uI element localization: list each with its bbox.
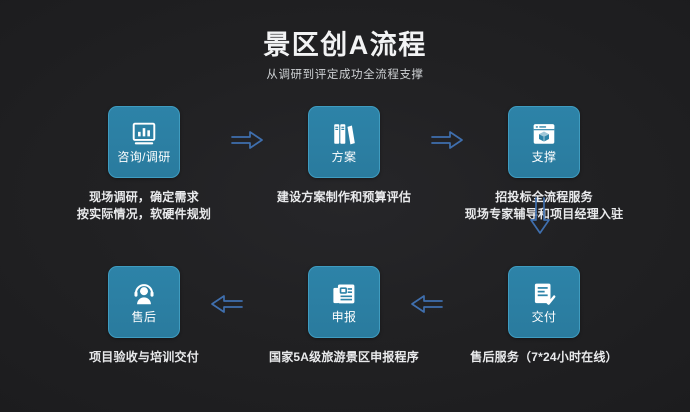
step-card-declare[interactable]: 申报	[308, 266, 380, 338]
flow-step-consult[interactable]: 咨询/调研 现场调研，确定需求 按实际情况，软硬件规划	[44, 106, 244, 223]
documents-icon	[331, 281, 357, 307]
flow-diagram-canvas: 景区创A流程 从调研到评定成功全流程支撑 咨询/调研 现场调研，确定需求 按实际…	[0, 0, 690, 412]
page-title: 景区创A流程	[0, 28, 690, 62]
flow-step-plan[interactable]: 方案 建设方案制作和预算评估	[244, 106, 444, 206]
arrow-left-deliver-to-declare	[410, 292, 444, 316]
document-check-icon	[531, 281, 557, 307]
step-card-support[interactable]: 支撑	[508, 106, 580, 178]
flow-step-deliver[interactable]: 交付 售后服务（7*24小时在线）	[444, 266, 644, 366]
step-card-plan[interactable]: 方案	[308, 106, 380, 178]
step-description: 项目验收与培训交付	[44, 349, 244, 366]
header: 景区创A流程 从调研到评定成功全流程支撑	[0, 28, 690, 83]
flow-step-declare[interactable]: 申报 国家5A级旅游景区申报程序	[244, 266, 444, 366]
page-subtitle: 从调研到评定成功全流程支撑	[0, 68, 690, 83]
step-label: 咨询/调研	[117, 150, 170, 164]
step-label: 申报	[332, 310, 357, 324]
flow-step-aftersales[interactable]: 售后 项目验收与培训交付	[44, 266, 244, 366]
step-description: 现场调研，确定需求 按实际情况，软硬件规划	[44, 189, 244, 223]
step-description: 国家5A级旅游景区申报程序	[244, 349, 444, 366]
step-label: 售后	[132, 310, 157, 324]
arrow-right-consult-to-plan	[230, 128, 264, 152]
step-card-aftersales[interactable]: 售后	[108, 266, 180, 338]
step-label: 支撑	[532, 150, 557, 164]
step-card-consult[interactable]: 咨询/调研	[108, 106, 180, 178]
step-description: 建设方案制作和预算评估	[244, 189, 444, 206]
arrow-right-plan-to-support	[430, 128, 464, 152]
step-label: 方案	[332, 150, 357, 164]
headset-person-icon	[131, 281, 157, 307]
window-cube-icon	[531, 121, 557, 147]
bar-chart-icon	[131, 121, 157, 147]
arrow-down-support-to-deliver	[528, 196, 552, 236]
step-description: 售后服务（7*24小时在线）	[444, 349, 644, 366]
step-card-deliver[interactable]: 交付	[508, 266, 580, 338]
arrow-left-declare-to-aftersales	[210, 292, 244, 316]
step-label: 交付	[532, 310, 557, 324]
books-icon	[331, 121, 357, 147]
